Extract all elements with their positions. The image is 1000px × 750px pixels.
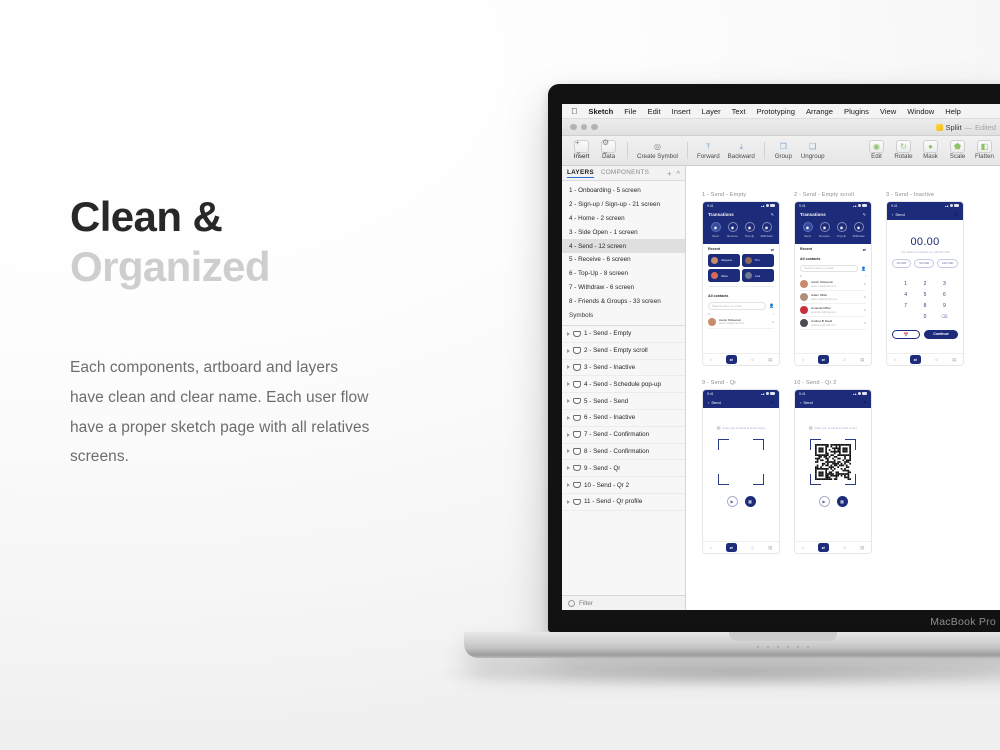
contact-more-icon[interactable] [864, 283, 866, 285]
contact-name: Marie [721, 274, 729, 278]
tabbar-transfer-icon[interactable]: ⇄ [818, 355, 829, 364]
keypad-key[interactable]: 3 [935, 281, 954, 287]
chevron-right-icon[interactable] [567, 500, 570, 504]
tabbar-contacts-icon[interactable]: ☺ [842, 545, 846, 550]
keypad-key[interactable]: 9 [935, 303, 954, 309]
chevron-right-icon[interactable] [567, 382, 570, 386]
headline-line-1: Clean & [70, 192, 470, 242]
layer-item-label: 7 - Send - Confirmation [584, 431, 649, 438]
toolbar-button-rotate[interactable]: ↻ Rotate [890, 140, 917, 160]
layer-item[interactable]: 6 - Send - Inactive [562, 410, 685, 427]
toolbar-group-arrange: ⤒ Forward ⤓ Backward [693, 140, 759, 160]
artboard[interactable]: 10 - Send - Qr 2 9:41 ‹ Send ↗ ▤ Scan yo… [794, 380, 872, 554]
menu-item-file[interactable]: File [624, 107, 636, 116]
maximize-button[interactable] [591, 124, 598, 131]
layer-item[interactable]: 5 - Send - Send [562, 393, 685, 410]
chevron-right-icon[interactable] [567, 466, 570, 470]
phone-body: Recent ⇄ All contacts Search name or ema… [795, 244, 871, 354]
artboard-title: 10 - Send - Qr 2 [794, 380, 872, 386]
action-label: Withdraw [760, 234, 772, 238]
marketing-body-text: Each components, artboard and layers hav… [70, 353, 370, 472]
contact-more-icon[interactable] [864, 309, 866, 311]
back-button[interactable]: ‹ Send [892, 212, 905, 217]
alpha-letter: A [800, 274, 802, 278]
page-item[interactable]: 2 - Sign-up / Sign-up - 21 screen [562, 198, 685, 212]
edit-pencil-icon[interactable]: ✎ [863, 212, 866, 217]
layer-item-label: 11 - Send - Qr profile [584, 498, 642, 505]
keypad-key[interactable]: 6 [935, 292, 954, 298]
page-item-label: Symbols [569, 312, 593, 319]
receive-icon: ◉ [728, 222, 738, 232]
move-backward-icon: ⤓ [734, 140, 749, 153]
alpha-marker: • [865, 274, 866, 278]
layer-item[interactable]: 8 - Send - Confirmation [562, 444, 685, 461]
avatar [745, 257, 752, 264]
avatar [800, 293, 808, 301]
menu-item-text[interactable]: Text [732, 107, 746, 116]
toolbar-label-edit: Edit [871, 154, 882, 160]
artboard-icon [573, 448, 581, 455]
page-item-label: 2 - Sign-up / Sign-up - 21 screen [569, 201, 660, 208]
sketch-canvas[interactable]: 1 - Send - Empty 9:41 Transations ✎ ◉ Se… [686, 166, 1000, 610]
page-background: Clean & Organized Each components, artbo… [0, 0, 1000, 750]
menu-item-help[interactable]: Help [945, 107, 961, 116]
page-item[interactable]: 4 - Home - 2 screen [562, 212, 685, 226]
recent-label: Recent [800, 247, 812, 251]
quick-amount-chip[interactable]: 10 USD [892, 259, 912, 268]
phone-header-title: Transations [800, 212, 826, 217]
status-icons [853, 204, 867, 207]
wifi-icon [950, 204, 953, 207]
toolbar-group-shape: ◉ Edit ↻ Rotate ● Mask ⬟ [863, 140, 998, 160]
artboard-icon [573, 431, 581, 438]
tabbar-transfer-icon[interactable]: ⇄ [818, 543, 829, 552]
tabbar-contacts-icon[interactable]: ☺ [934, 357, 938, 362]
phone-body: 00.00 Your balance available is 1,240.00… [887, 220, 963, 353]
quick-amount-chip[interactable]: 100 USD [937, 259, 958, 268]
page-item[interactable]: Symbols [562, 308, 685, 322]
tabbar-contacts-icon[interactable]: ☺ [750, 545, 754, 550]
signal-icon [761, 392, 765, 395]
alpha-letter: A [708, 312, 710, 316]
toolbar-label-create-symbol: Create Symbol [637, 154, 678, 160]
share-icon[interactable]: ↗ [863, 400, 866, 405]
menu-item-plugins[interactable]: Plugins [844, 107, 869, 116]
app-main-area: LAYERS COMPONENTS + ^ 1 - Onboarding - 5… [562, 166, 1000, 610]
page-item[interactable]: 3 - Side Open - 1 screen [562, 225, 685, 239]
battery-icon [862, 392, 867, 395]
keypad-key[interactable]: 4 [896, 292, 915, 298]
action-receive-icon[interactable]: ◉ Receive [817, 222, 832, 238]
battery-icon [770, 204, 775, 207]
continue-button[interactable]: Continue [924, 330, 958, 339]
scale-icon: ⬟ [950, 140, 965, 153]
chevron-right-icon[interactable] [567, 483, 570, 487]
status-time: 9:41 [707, 392, 714, 396]
filter-bar[interactable]: Filter [562, 595, 685, 610]
page-item[interactable]: 4 - Send - 12 screen [562, 239, 685, 253]
page-title: Clean & Organized [70, 192, 470, 291]
qr-code-icon[interactable]: ▦ [837, 496, 848, 507]
phone-screen: 9:41 ‹ Send ↗ ▤ Scan your qr friend to s… [702, 389, 780, 554]
contacts-list: Aaron Mckeown aaron.mck@mail.com [703, 316, 779, 329]
toolbar-button-forward[interactable]: ⤒ Forward [693, 140, 724, 160]
phone-body: Recent ⇄ Margaux Tim Marie Lola All cont… [703, 244, 779, 354]
page-item-label: 5 - Receive - 6 screen [569, 256, 631, 263]
contact-more-icon[interactable] [772, 321, 774, 323]
panel-tab-bar: LAYERS COMPONENTS + ^ [562, 166, 685, 181]
chevron-right-icon[interactable] [567, 416, 570, 420]
tabbar-card-icon[interactable]: ▤ [952, 357, 956, 363]
contact-more-icon[interactable] [864, 322, 866, 324]
plus-dropdown-icon: + ⌄ [574, 140, 589, 153]
topup-icon: ◉ [837, 222, 847, 232]
camera-controls: ▶▦ [795, 496, 871, 507]
contact-row[interactable]: Adam Miller adam.miller@mail.com [800, 291, 866, 304]
status-time: 9:41 [707, 204, 714, 208]
topup-icon: ◉ [745, 222, 755, 232]
action-receive-icon[interactable]: ◉ Receive [725, 222, 740, 238]
send-icon: ◉ [803, 222, 813, 232]
toolbar-button-create-symbol[interactable]: ◎ Create Symbol [633, 140, 682, 160]
page-item-label: 4 - Home - 2 screen [569, 215, 625, 222]
chevron-right-icon[interactable] [567, 365, 570, 369]
toolbar-label-scale: Scale [950, 154, 965, 160]
menu-item-prototyping[interactable]: Prototyping [757, 107, 795, 116]
chevron-right-icon[interactable] [567, 449, 570, 453]
toolbar-button-mask[interactable]: ● Mask [917, 140, 944, 160]
recent-contact-card[interactable]: Lola [742, 269, 774, 282]
tabbar-contacts-icon[interactable]: ☺ [842, 357, 846, 362]
keypad-key[interactable]: 0 [915, 314, 934, 320]
recent-contact-cards: Margaux Tim Marie Lola [703, 254, 779, 283]
quick-amount-chip[interactable]: 50 USD [914, 259, 934, 268]
status-time: 9:41 [799, 392, 806, 396]
artboard[interactable]: 9 - Send - Qr 9:41 ‹ Send ↗ ▤ Scan your … [702, 380, 780, 554]
phone-status-bar: 9:41 [795, 390, 871, 397]
layer-item-label: 9 - Send - Qr [584, 465, 620, 472]
toolbar-divider [627, 142, 628, 159]
status-time: 9:41 [799, 204, 806, 208]
edit-pencil-icon[interactable]: ✎ [955, 212, 958, 217]
move-forward-icon: ⤒ [701, 140, 716, 153]
signal-icon [945, 204, 949, 207]
back-button[interactable]: ‹ Send [708, 400, 721, 405]
menu-item-layer[interactable]: Layer [702, 107, 721, 116]
tabbar-transfer-icon[interactable]: ⇄ [910, 355, 921, 364]
phone-screen: 9:41 Transations ✎ ◉ Send ◉ Receive ◉ To… [702, 201, 780, 366]
laptop-base-detail [753, 646, 813, 648]
tabbar-home-icon[interactable]: ⌂ [802, 545, 805, 550]
layer-item[interactable]: 4 - Send - Schedule pop-up [562, 376, 685, 393]
qr-code-icon[interactable]: ▦ [745, 496, 756, 507]
laptop-shadow [430, 660, 1000, 688]
avatar [711, 272, 718, 279]
tab-components[interactable]: COMPONENTS [601, 169, 649, 177]
minimize-button[interactable] [581, 124, 588, 131]
keypad-key[interactable]: 7 [896, 303, 915, 309]
menu-item-insert[interactable]: Insert [672, 107, 691, 116]
qr-scan-frame [810, 439, 856, 485]
layers-panel: LAYERS COMPONENTS + ^ 1 - Onboarding - 5… [562, 166, 686, 610]
laptop-base [464, 632, 1000, 658]
layer-item-label: 2 - Send - Empty scroll [584, 347, 648, 354]
menu-item-window[interactable]: Window [907, 107, 934, 116]
page-item[interactable]: 7 - Withdraw - 6 screen [562, 281, 685, 295]
avatar [745, 272, 752, 279]
back-label: Send [711, 400, 720, 405]
tabbar-home-icon[interactable]: ⌂ [710, 545, 713, 550]
back-label: Send [895, 212, 904, 217]
artboard-icon [573, 331, 581, 338]
page-item-label: 7 - Withdraw - 6 screen [569, 284, 634, 291]
layer-item-label: 4 - Send - Schedule pop-up [584, 381, 661, 388]
phone-screen: 9:41 ‹ Send ✎ 00.00 Your balance availab… [886, 201, 964, 366]
contact-sub: adam.miller@mail.com [811, 298, 861, 301]
phone-header: Transations ✎ ◉ Send ◉ Receive ◉ Top-Up … [795, 209, 871, 244]
avatar [800, 280, 808, 288]
tabbar-transfer-icon[interactable]: ⇄ [726, 355, 737, 364]
battery-icon [770, 392, 775, 395]
flatten-icon: ◧ [977, 140, 992, 153]
phone-screen: 9:41 ‹ Send ↗ ▤ Scan your qr friend to s… [794, 389, 872, 554]
recent-contact-card[interactable]: Tim [742, 254, 774, 267]
page-item[interactable]: 6 - Top-Up - 8 screen [562, 267, 685, 281]
avatar [708, 318, 716, 326]
layer-item[interactable]: 3 - Send - Inactive [562, 360, 685, 377]
contact-more-icon[interactable] [864, 296, 866, 298]
phone-status-bar: 9:41 [795, 202, 871, 209]
qr-scan-icon: ▤ [717, 425, 721, 430]
mask-icon: ● [923, 140, 938, 153]
toolbar-button-edit[interactable]: ◉ Edit [863, 140, 890, 160]
action-topup-icon[interactable]: ◉ Top-Up [742, 222, 757, 238]
artboard[interactable]: 1 - Send - Empty 9:41 Transations ✎ ◉ Se… [702, 192, 780, 366]
phone-screen: 9:41 Transations ✎ ◉ Send ◉ Receive ◉ To… [794, 201, 872, 366]
chevron-right-icon[interactable] [567, 399, 570, 403]
send-icon: ◉ [711, 222, 721, 232]
artboard-icon [573, 381, 581, 388]
contact-name: Margaux [721, 258, 733, 262]
toolbar-label-insert: Insert [574, 154, 589, 160]
calendar-icon[interactable]: 📅 [892, 330, 920, 339]
keypad-key[interactable]: ⌫ [935, 314, 954, 320]
action-send-icon[interactable]: ◉ Send [800, 222, 815, 238]
macbook-pro-mockup:  Sketch File Edit Insert Layer Text Pro… [548, 84, 1000, 632]
headline-line-2: Organized [70, 242, 470, 292]
contact-row[interactable]: Andrea B Naud andrea.bn@mail.com [800, 317, 866, 330]
tabbar-card-icon[interactable]: ▤ [860, 357, 864, 363]
scan-hint-text: Scan your qr friend to send money [815, 426, 858, 430]
status-icons [945, 204, 959, 207]
toolbar-label-group: Group [775, 154, 792, 160]
amount-value: 00.00 [887, 236, 963, 248]
recent-contact-card[interactable]: Margaux [708, 254, 740, 267]
action-label: Receive [727, 234, 737, 238]
cta-row: 📅 Continue [887, 330, 963, 339]
tabbar-contacts-icon[interactable]: ☺ [750, 357, 754, 362]
signal-icon [853, 204, 857, 207]
layer-item[interactable]: 11 - Send - Qr profile [562, 494, 685, 511]
phone-body: ▤ Scan your qr friend to send money ▶▦ [795, 408, 871, 541]
artboard-title: 2 - Send - Empty scroll [794, 192, 872, 198]
layer-item-label: 8 - Send - Confirmation [584, 448, 649, 455]
recent-label: Recent [708, 247, 720, 251]
contact-row[interactable]: Aaron Mckeown aaron.mck@mail.com [800, 278, 866, 291]
action-withdraw-icon[interactable]: ◉ Withdraw [851, 222, 866, 238]
action-label: Top-Up [837, 234, 846, 238]
recent-section-header: Recent ⇄ [703, 244, 779, 254]
document-name: Spliit [946, 123, 962, 132]
page-item[interactable]: 5 - Receive - 6 screen [562, 253, 685, 267]
contact-row[interactable]: Amanda Miller amanda.m@mail.com [800, 304, 866, 317]
status-time: 9:41 [891, 204, 898, 208]
contact-row[interactable]: Aaron Mckeown aaron.mck@mail.com [708, 316, 774, 329]
recent-contact-card[interactable]: Marie [708, 269, 740, 282]
tabbar-card-icon[interactable]: ▤ [768, 357, 772, 363]
artboard-icon [573, 465, 581, 472]
toolbar-label-forward: Forward [697, 154, 720, 160]
back-button[interactable]: ‹ Send [800, 400, 813, 405]
page-item[interactable]: 1 - Onboarding - 5 screen [562, 184, 685, 198]
action-send-icon[interactable]: ◉ Send [708, 222, 723, 238]
panel-tab-actions: + ^ [667, 169, 680, 178]
tabbar-card-icon[interactable]: ▤ [768, 545, 772, 551]
receive-icon: ◉ [820, 222, 830, 232]
menu-item-sketch[interactable]: Sketch [588, 107, 613, 116]
signal-icon [853, 392, 857, 395]
rotate-icon: ↻ [896, 140, 911, 153]
page-item-label: 6 - Top-Up - 8 screen [569, 270, 628, 277]
layer-item[interactable]: 10 - Send - Qr 2 [562, 477, 685, 494]
chevron-right-icon[interactable] [567, 332, 570, 336]
toolbar-button-scale[interactable]: ⬟ Scale [944, 140, 971, 160]
macos-menubar:  Sketch File Edit Insert Layer Text Pro… [562, 104, 1000, 119]
phone-header: ‹ Send ↗ [795, 397, 871, 408]
wifi-icon [766, 204, 769, 207]
laptop-screen:  Sketch File Edit Insert Layer Text Pro… [562, 104, 1000, 610]
close-button[interactable] [570, 124, 577, 131]
tabbar-home-icon[interactable]: ⌂ [894, 357, 897, 362]
shuffle-icon[interactable]: ⇄ [771, 247, 774, 252]
document-icon [936, 124, 943, 131]
layer-item-label: 10 - Send - Qr 2 [584, 482, 629, 489]
qr-scan-frame [718, 439, 764, 485]
search-row: Search name or email 👤 [703, 302, 779, 310]
phone-tab-bar: ⌂⇄☺▤ [795, 353, 871, 365]
action-withdraw-icon[interactable]: ◉ Withdraw [759, 222, 774, 238]
menu-item-edit[interactable]: Edit [648, 107, 661, 116]
search-input[interactable]: Search name or email [800, 265, 858, 273]
layer-item[interactable]: 2 - Send - Empty scroll [562, 343, 685, 360]
artboard-title: 3 - Send - Inactive [886, 192, 964, 198]
menu-item-arrange[interactable]: Arrange [806, 107, 833, 116]
chevron-right-icon[interactable] [567, 349, 570, 353]
toolbar-button-flatten[interactable]: ◧ Flatten [971, 140, 998, 160]
gallery-icon[interactable]: ▶ [819, 496, 830, 507]
recent-section-header: Recent ⇄ [795, 244, 871, 254]
keypad-key[interactable]: 8 [915, 303, 934, 309]
action-topup-icon[interactable]: ◉ Top-Up [834, 222, 849, 238]
layer-item[interactable]: 1 - Send - Empty [562, 326, 685, 343]
qr-code-image [815, 444, 851, 480]
search-input[interactable]: Search name or email [708, 302, 766, 310]
wifi-icon [858, 392, 861, 395]
add-person-icon[interactable]: 👤 [861, 266, 866, 271]
tabbar-home-icon[interactable]: ⌂ [802, 357, 805, 362]
wifi-icon [858, 204, 861, 207]
artboard-icon [573, 499, 581, 506]
contact-sub: aaron.mck@mail.com [811, 285, 861, 288]
phone-tab-bar: ⌂⇄☺▤ [795, 541, 871, 553]
plus-icon[interactable]: + [667, 169, 671, 178]
tab-layers[interactable]: LAYERS [567, 169, 594, 178]
layer-item[interactable]: 7 - Send - Confirmation [562, 427, 685, 444]
keypad-key[interactable]: 1 [896, 281, 915, 287]
avatar [711, 257, 718, 264]
toolbar-button-data[interactable]: ⚙ ⌄ Data [595, 140, 622, 160]
toolbar-button-insert[interactable]: + ⌄ Insert [568, 140, 595, 160]
all-contacts-header: All contacts [795, 254, 871, 263]
window-controls [570, 124, 598, 131]
add-person-icon[interactable]: 👤 [769, 303, 774, 308]
artboard-icon [573, 415, 581, 422]
tabbar-card-icon[interactable]: ▤ [860, 545, 864, 551]
withdraw-icon: ◉ [854, 222, 864, 232]
layer-item[interactable]: 9 - Send - Qr [562, 460, 685, 477]
phone-body: ▤ Scan your qr friend to send money ▶▦ [703, 408, 779, 541]
tabbar-transfer-icon[interactable]: ⇄ [726, 543, 737, 552]
qr-scan-icon: ▤ [809, 425, 813, 430]
apple-logo-icon[interactable]:  [571, 107, 577, 116]
marketing-copy: Clean & Organized Each components, artbo… [70, 192, 470, 472]
avatar [800, 306, 808, 314]
artboard[interactable]: 3 - Send - Inactive 9:41 ‹ Send ✎ 00.00 … [886, 192, 964, 366]
chevron-right-icon[interactable] [567, 433, 570, 437]
quick-actions: ◉ Send ◉ Receive ◉ Top-Up ◉ Withdraw [800, 222, 866, 238]
all-contacts-label: All contacts [708, 294, 728, 298]
keypad-key[interactable]: 5 [915, 292, 934, 298]
page-item-label: 3 - Side Open - 1 screen [569, 229, 638, 236]
data-gear-icon: ⚙ ⌄ [601, 140, 616, 153]
share-icon[interactable]: ↗ [771, 400, 774, 405]
toolbar-label-ungroup: Ungroup [801, 154, 825, 160]
layers-list: 1 - Send - Empty2 - Send - Empty scroll3… [562, 326, 685, 595]
battery-icon [954, 204, 959, 207]
chevron-up-icon[interactable]: ^ [676, 169, 680, 178]
toolbar-button-ungroup[interactable]: ❑ Ungroup [797, 140, 829, 160]
back-label: Send [803, 400, 812, 405]
contact-sub: amanda.m@mail.com [811, 311, 861, 314]
toolbar-button-group[interactable]: ❐ Group [770, 140, 797, 160]
shuffle-icon[interactable]: ⇄ [863, 247, 866, 252]
layer-item-label: 6 - Send - Inactive [584, 414, 635, 421]
toolbar-label-mask: Mask [923, 154, 938, 160]
toolbar-button-backward[interactable]: ⤓ Backward [724, 140, 759, 160]
ungroup-icon: ❑ [805, 140, 820, 153]
page-item[interactable]: 8 - Friends & Groups - 33 screen [562, 294, 685, 308]
battery-icon [862, 204, 867, 207]
menu-item-view[interactable]: View [880, 107, 896, 116]
artboard[interactable]: 2 - Send - Empty scroll 9:41 Transations… [794, 192, 872, 366]
phone-tab-bar: ⌂⇄☺▤ [887, 353, 963, 365]
gallery-icon[interactable]: ▶ [727, 496, 738, 507]
keypad-key[interactable]: 2 [915, 281, 934, 287]
all-contacts-label: All contacts [800, 257, 820, 261]
toolbar-label-flatten: Flatten [975, 154, 994, 160]
edit-pencil-icon[interactable]: ✎ [771, 212, 774, 217]
tabbar-home-icon[interactable]: ⌂ [710, 357, 713, 362]
